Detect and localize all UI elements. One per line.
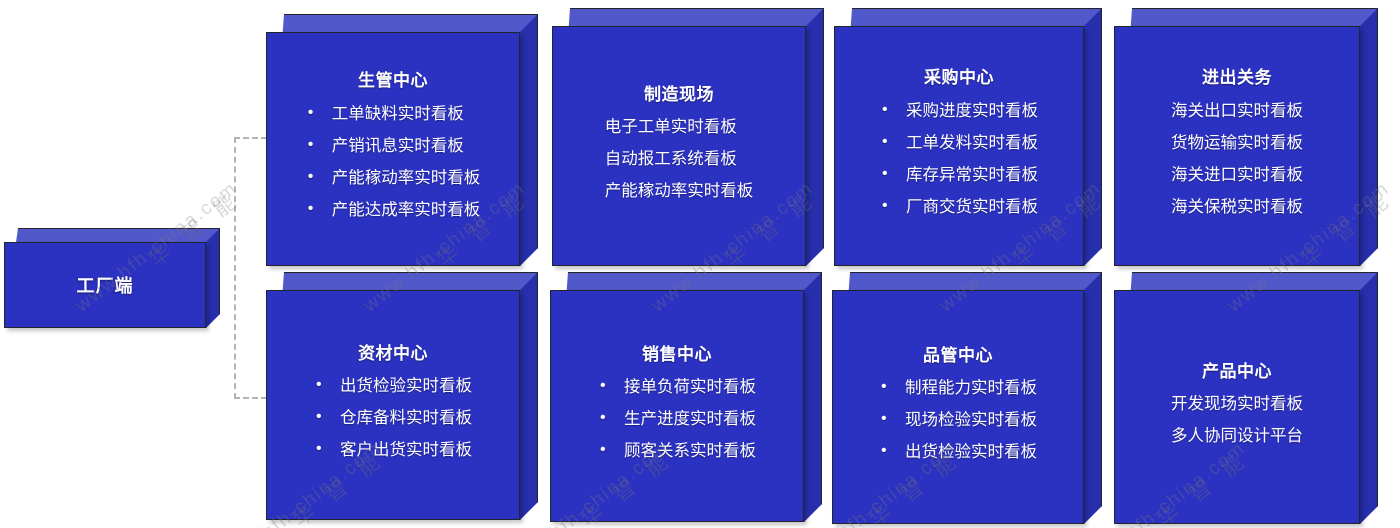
card-item-list: 接单负荷实时看板 生产进度实时看板 顾客关系实时看板 <box>598 371 756 468</box>
list-item: 产能达成率实时看板 <box>306 194 481 226</box>
list-item: 多人协同设计平台 <box>1171 420 1303 452</box>
card-manufacturing-site[interactable]: 制造现场 电子工单实时看板 自动报工系统看板 产能稼动率实时看板 <box>552 8 824 266</box>
card-title: 资材中心 <box>358 344 428 364</box>
card-front-face: 销售中心 接单负荷实时看板 生产进度实时看板 顾客关系实时看板 <box>550 290 804 522</box>
list-item: 海关进口实时看板 <box>1171 159 1303 191</box>
list-item: 厂商交货实时看板 <box>880 191 1038 223</box>
card-title: 制造现场 <box>644 85 714 105</box>
card-front-face: 资材中心 出货检验实时看板 仓库备料实时看板 客户出货实时看板 <box>266 290 520 520</box>
list-item: 工单缺料实时看板 <box>306 98 481 130</box>
list-item: 电子工单实时看板 <box>605 111 754 143</box>
card-item-list: 采购进度实时看板 工单发料实时看板 库存异常实时看板 厂商交货实时看板 <box>880 95 1038 224</box>
card-quality-center[interactable]: 品管中心 制程能力实时看板 现场检验实时看板 出货检验实时看板 <box>832 272 1102 524</box>
card-sales-center[interactable]: 销售中心 接单负荷实时看板 生产进度实时看板 顾客关系实时看板 <box>550 272 822 522</box>
diagram-canvas: 工厂端 生管中心 工单缺料实时看板 产销讯息实时看板 产能稼动率实时看板 产能达… <box>0 0 1400 528</box>
card-customs-affairs[interactable]: 进出关务 海关出口实时看板 货物运输实时看板 海关进口实时看板 海关保税实时看板 <box>1114 8 1378 266</box>
card-front-face: 产品中心 开发现场实时看板 多人协同设计平台 <box>1114 290 1360 524</box>
factory-node[interactable]: 工厂端 <box>4 228 220 328</box>
list-item: 自动报工系统看板 <box>605 143 754 175</box>
factory-node-label: 工厂端 <box>77 272 134 298</box>
list-item: 采购进度实时看板 <box>880 95 1038 127</box>
card-front-face: 制造现场 电子工单实时看板 自动报工系统看板 产能稼动率实时看板 <box>552 26 806 266</box>
list-item: 接单负荷实时看板 <box>598 371 756 403</box>
card-item-list: 出货检验实时看板 仓库备料实时看板 客户出货实时看板 <box>314 370 472 467</box>
card-item-list: 海关出口实时看板 货物运输实时看板 海关进口实时看板 海关保税实时看板 <box>1171 95 1303 224</box>
card-item-list: 制程能力实时看板 现场检验实时看板 出货检验实时看板 <box>879 372 1037 469</box>
card-production-control-center[interactable]: 生管中心 工单缺料实时看板 产销讯息实时看板 产能稼动率实时看板 产能达成率实时… <box>266 14 538 266</box>
card-title: 产品中心 <box>1202 362 1272 382</box>
list-item: 开发现场实时看板 <box>1171 388 1303 420</box>
card-item-list: 开发现场实时看板 多人协同设计平台 <box>1171 388 1303 452</box>
card-title: 销售中心 <box>642 345 712 365</box>
list-item: 产能稼动率实时看板 <box>605 175 754 207</box>
connector-vertical-trunk <box>234 137 236 399</box>
list-item: 海关保税实时看板 <box>1171 191 1303 223</box>
card-materials-center[interactable]: 资材中心 出货检验实时看板 仓库备料实时看板 客户出货实时看板 <box>266 272 538 520</box>
list-item: 库存异常实时看板 <box>880 159 1038 191</box>
card-product-center[interactable]: 产品中心 开发现场实时看板 多人协同设计平台 <box>1114 272 1378 524</box>
card-item-list: 工单缺料实时看板 产销讯息实时看板 产能稼动率实时看板 产能达成率实时看板 <box>306 98 481 227</box>
card-title: 进出关务 <box>1202 68 1272 88</box>
list-item: 客户出货实时看板 <box>314 434 472 466</box>
list-item: 产能稼动率实时看板 <box>306 162 481 194</box>
list-item: 出货检验实时看板 <box>879 436 1037 468</box>
card-front-face: 进出关务 海关出口实时看板 货物运输实时看板 海关进口实时看板 海关保税实时看板 <box>1114 26 1360 266</box>
card-front-face: 生管中心 工单缺料实时看板 产销讯息实时看板 产能稼动率实时看板 产能达成率实时… <box>266 32 520 266</box>
list-item: 生产进度实时看板 <box>598 403 756 435</box>
card-front-face: 品管中心 制程能力实时看板 现场检验实时看板 出货检验实时看板 <box>832 290 1084 524</box>
list-item: 货物运输实时看板 <box>1171 127 1303 159</box>
list-item: 顾客关系实时看板 <box>598 435 756 467</box>
card-item-list: 电子工单实时看板 自动报工系统看板 产能稼动率实时看板 <box>605 111 754 208</box>
list-item: 产销讯息实时看板 <box>306 130 481 162</box>
factory-node-front-face: 工厂端 <box>4 242 206 328</box>
card-title: 生管中心 <box>358 71 428 91</box>
card-title: 品管中心 <box>923 346 993 366</box>
card-title: 采购中心 <box>924 68 994 88</box>
list-item: 现场检验实时看板 <box>879 404 1037 436</box>
list-item: 仓库备料实时看板 <box>314 402 472 434</box>
list-item: 工单发料实时看板 <box>880 127 1038 159</box>
list-item: 出货检验实时看板 <box>314 370 472 402</box>
card-front-face: 采购中心 采购进度实时看板 工单发料实时看板 库存异常实时看板 厂商交货实时看板 <box>834 26 1084 266</box>
card-purchasing-center[interactable]: 采购中心 采购进度实时看板 工单发料实时看板 库存异常实时看板 厂商交货实时看板 <box>834 8 1102 266</box>
list-item: 制程能力实时看板 <box>879 372 1037 404</box>
list-item: 海关出口实时看板 <box>1171 95 1303 127</box>
